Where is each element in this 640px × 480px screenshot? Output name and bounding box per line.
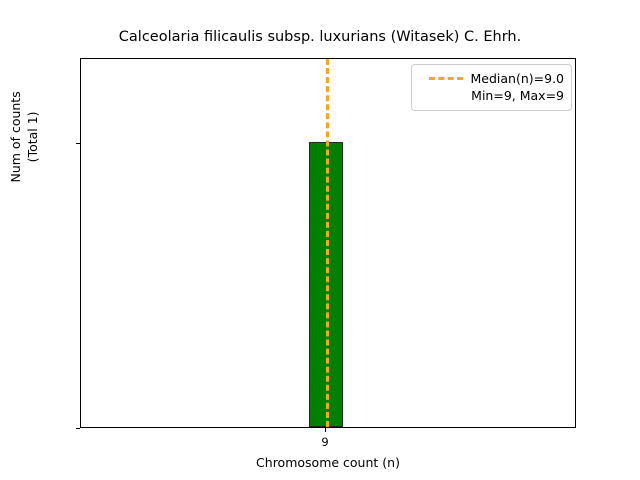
legend-entry-minmax: Min=9, Max=9: [419, 87, 564, 104]
legend-entry-median: Median(n)=9.0: [419, 70, 564, 87]
page-title: Calceolaria filicaulis subsp. luxurians …: [0, 29, 640, 45]
chart-figure: Calceolaria filicaulis subsp. luxurians …: [0, 0, 640, 480]
x-axis-label: Chromosome count (n): [80, 455, 576, 470]
x-tick-mark-9: [325, 428, 326, 432]
y-axis-label: Num of counts (Total 1): [8, 0, 42, 292]
legend: Median(n)=9.0 Min=9, Max=9: [411, 64, 572, 111]
legend-label-median: Median(n)=9.0: [471, 71, 565, 86]
x-tick-label-9: 9: [321, 435, 328, 449]
median-line: [326, 59, 329, 427]
legend-label-minmax: Min=9, Max=9: [471, 88, 564, 103]
dashed-line-icon: [429, 77, 463, 80]
y-axis-label-line1: Num of counts: [8, 91, 23, 182]
y-tick-mark-0: [76, 428, 80, 429]
plot-area: [80, 58, 576, 428]
y-axis-label-line2: (Total 1): [25, 111, 40, 162]
